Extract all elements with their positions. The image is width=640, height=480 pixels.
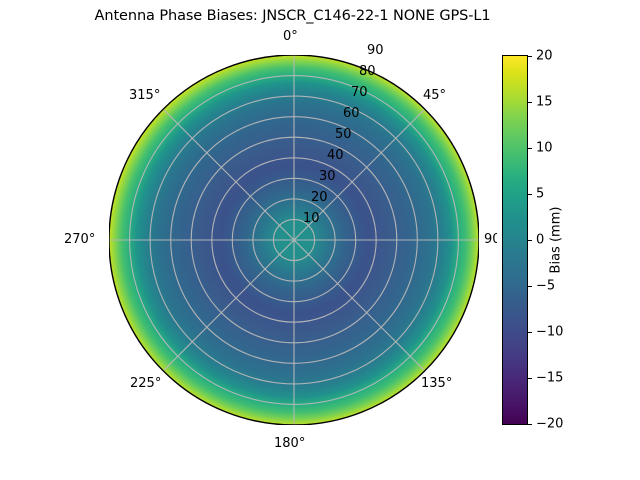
polar-plot-surface (109, 55, 479, 425)
radial-tick-50: 50 (335, 127, 352, 142)
angular-gridlines (109, 55, 479, 425)
colorbar-tick-20: 20 (536, 49, 553, 64)
colorbar: 20 15 10 5 0 −5 −10 −15 −20 (502, 55, 528, 425)
colorbar-axis-label: Bias (mm) (549, 207, 564, 274)
theta-tick-315: 315° (129, 88, 160, 103)
colorbar-tick-neg5: −5 (536, 279, 555, 294)
colorbar-gradient (502, 55, 528, 425)
radial-tick-80: 80 (359, 64, 376, 79)
radial-tick-10: 10 (303, 211, 320, 226)
colorbar-tick-15: 15 (536, 95, 553, 110)
matplotlib-figure: Antenna Phase Biases: JNSCR_C146-22-1 NO… (0, 0, 640, 480)
radial-tick-90: 90 (367, 43, 384, 58)
theta-tick-0: 0° (283, 29, 298, 44)
theta-tick-45: 45° (423, 88, 446, 103)
colorbar-tick-line (528, 56, 532, 57)
theta-tick-270: 270° (64, 232, 95, 247)
colorbar-tick-line (528, 102, 532, 103)
colorbar-tick-line (528, 332, 532, 333)
colorbar-tick-neg10: −10 (536, 325, 563, 340)
colorbar-tick-line (528, 378, 532, 379)
radial-tick-60: 60 (343, 106, 360, 121)
theta-tick-225: 225° (130, 376, 161, 391)
radial-tick-40: 40 (327, 148, 344, 163)
radial-tick-30: 30 (319, 169, 336, 184)
colorbar-tick-line (528, 240, 532, 241)
colorbar-tick-10: 10 (536, 141, 553, 156)
polar-axes: 10 20 30 40 50 60 70 80 90 (109, 55, 479, 425)
radial-tick-70: 70 (351, 85, 368, 100)
colorbar-tick-line (528, 424, 532, 425)
theta-tick-180: 180° (274, 436, 305, 451)
colorbar-tick-line (528, 286, 532, 287)
colorbar-tick-line (528, 148, 532, 149)
radial-tick-20: 20 (311, 190, 328, 205)
page-title: Antenna Phase Biases: JNSCR_C146-22-1 NO… (0, 8, 585, 24)
colorbar-tick-neg15: −15 (536, 371, 563, 386)
colorbar-tick-neg20: −20 (536, 417, 563, 432)
colorbar-tick-0: 0 (536, 233, 544, 248)
colorbar-tick-line (528, 194, 532, 195)
theta-tick-135: 135° (421, 376, 452, 391)
colorbar-tick-5: 5 (536, 187, 544, 202)
